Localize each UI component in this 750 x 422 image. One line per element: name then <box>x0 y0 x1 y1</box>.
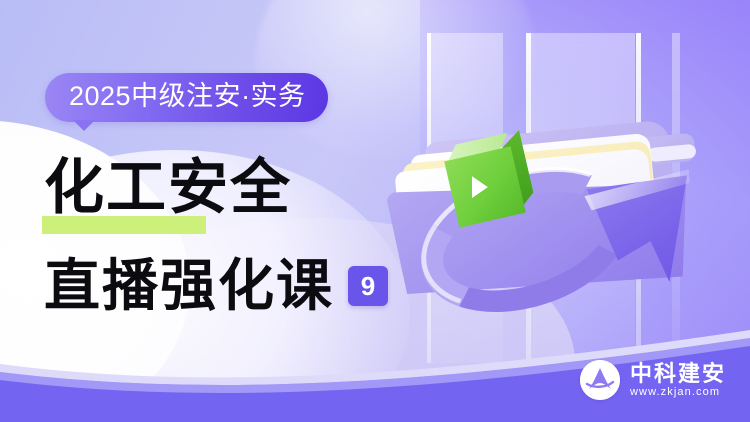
brand-website: www.zkjan.com <box>630 387 726 398</box>
headline-block: 化工安全 <box>44 158 292 218</box>
brand-logo-text: 中科建安 www.zkjan.com <box>630 363 726 398</box>
play-triangle-icon <box>472 176 488 198</box>
course-poster: 2025中级注安·实务 化工安全 直播强化课 9 中科建安 www.zkjan.… <box>0 0 750 422</box>
brand-mark-icon <box>580 360 620 400</box>
episode-number-badge: 9 <box>348 266 388 306</box>
headline-line-2: 直播强化课 <box>44 258 334 314</box>
brand-logo: 中科建安 www.zkjan.com <box>580 360 726 400</box>
headline-line-1: 化工安全 <box>44 158 292 218</box>
brand-name: 中科建安 <box>630 363 726 385</box>
headline-line-2-row: 直播强化课 9 <box>44 258 388 314</box>
course-category-pill: 2025中级注安·实务 <box>45 73 328 122</box>
